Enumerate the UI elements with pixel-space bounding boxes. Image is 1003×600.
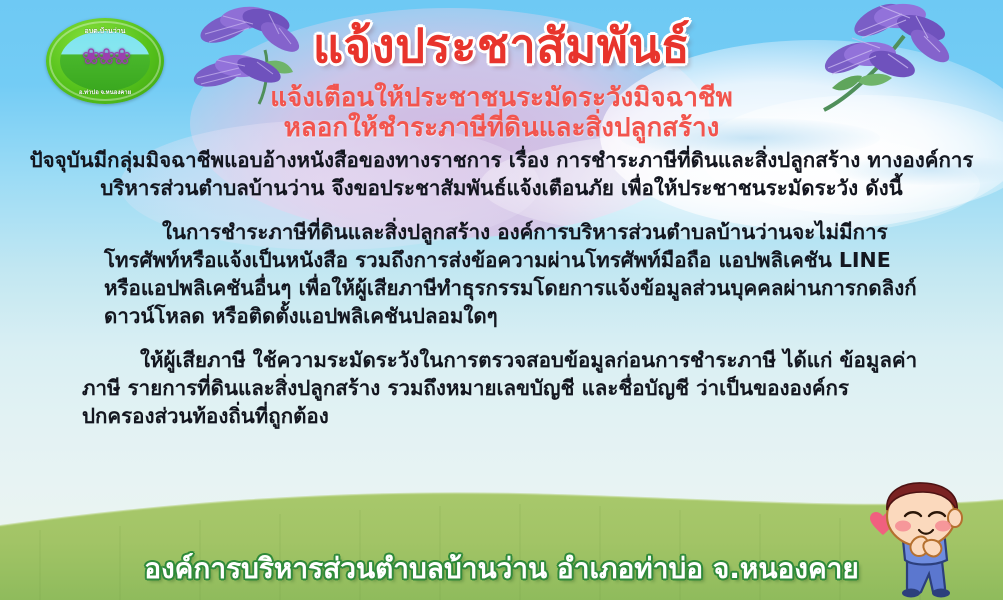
poster-canvas: ❀❀❀ อบต.บ้านว่าน อ.ท่าบ่อ จ.หนองคาย: [0, 0, 1003, 600]
page-title: แจ้งประชาสัมพันธ์: [0, 20, 1003, 74]
subtitle-line-2: หลอกให้ชำระภาษีที่ดินและสิ่งปลูกสร้าง: [0, 113, 1003, 143]
footer-organization-name: องค์การบริหารส่วนตำบลบ้านว่าน อำเภอท่าบ่…: [0, 552, 1003, 586]
paragraph-3: ให้ผู้เสียภาษี ใช้ความระมัดระวังในการตรว…: [22, 346, 981, 430]
page-subtitle: แจ้งเตือนให้ประชาชนระมัดระวังมิจฉาชีพ หล…: [0, 83, 1003, 143]
subtitle-line-1: แจ้งเตือนให้ประชาชนระมัดระวังมิจฉาชีพ: [0, 83, 1003, 113]
body-content: ปัจจุบันมีกลุ่มมิจฉาชีพแอบอ้างหนังสือของ…: [22, 146, 981, 446]
paragraph-1: ปัจจุบันมีกลุ่มมิจฉาชีพแอบอ้างหนังสือของ…: [22, 146, 981, 202]
paragraph-2: ในการชำระภาษีที่ดินและสิ่งปลูกสร้าง องค์…: [22, 218, 981, 330]
